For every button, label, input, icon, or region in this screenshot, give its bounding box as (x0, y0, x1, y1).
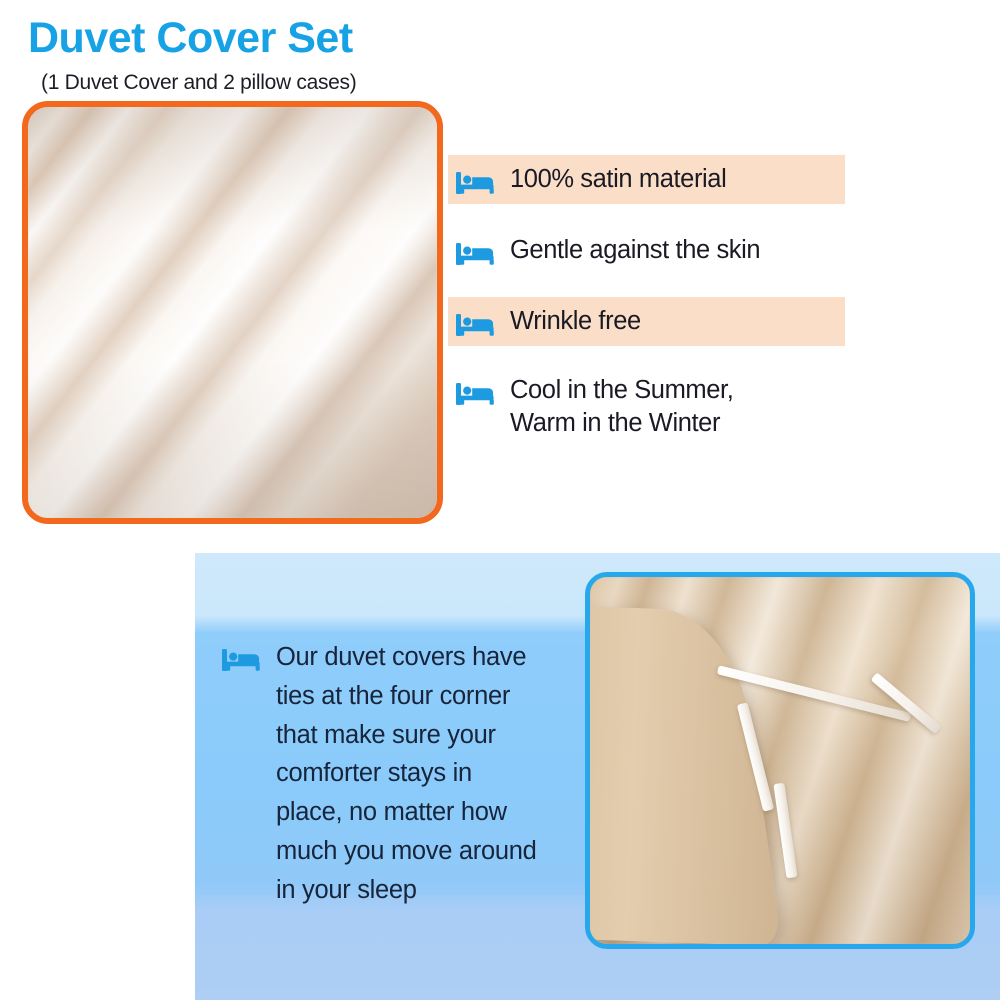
satin-shadow (28, 107, 437, 518)
feature-label: Wrinkle free (510, 305, 641, 338)
feature-item-wrinkle-free: Wrinkle free (448, 297, 845, 346)
bed-icon (456, 381, 496, 407)
tie-description-block: Our duvet covers have ties at the four c… (222, 638, 572, 909)
page-subtitle: (1 Duvet Cover and 2 pillow cases) (41, 71, 356, 95)
bed-icon (456, 241, 496, 267)
feature-label: Cool in the Summer, Warm in the Winter (510, 374, 733, 439)
feature-item-temperature: Cool in the Summer, Warm in the Winter (448, 366, 845, 447)
hero-fabric-photo (22, 101, 443, 524)
feature-item-satin-material: 100% satin material (448, 155, 845, 204)
bed-icon (222, 647, 262, 673)
page-title: Duvet Cover Set (28, 16, 353, 61)
feature-label: 100% satin material (510, 163, 726, 196)
bed-icon (456, 170, 496, 196)
bed-icon (456, 312, 496, 338)
feature-label: Gentle against the skin (510, 234, 760, 267)
tie-description-label: Our duvet covers have ties at the four c… (276, 638, 536, 909)
feature-item-gentle-skin: Gentle against the skin (448, 226, 845, 275)
product-infographic: Duvet Cover Set (1 Duvet Cover and 2 pil… (0, 0, 1000, 1000)
duvet-tie-photo (585, 572, 975, 949)
